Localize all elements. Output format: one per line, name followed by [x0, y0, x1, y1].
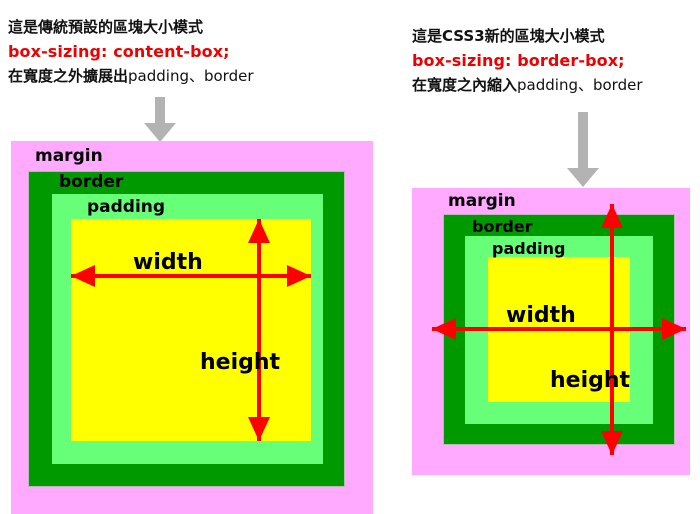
caption-code-declaration: box-sizing: content-box; — [8, 39, 398, 64]
box-model-diagram-border-box: margin border padding width height — [412, 188, 690, 475]
caption-border-box: 這是CSS3新的區塊大小模式 box-sizing: border-box; 在… — [412, 25, 700, 97]
height-arrow-head-bottom — [601, 431, 623, 455]
down-arrow-shaft — [578, 112, 588, 170]
height-measure-arrow — [248, 219, 270, 441]
width-label: width — [133, 251, 203, 275]
caption-line-1: 這是CSS3新的區塊大小模式 — [412, 25, 700, 48]
padding-label: padding — [492, 239, 565, 258]
height-arrow-line — [257, 219, 261, 441]
down-arrow-head — [567, 168, 599, 187]
width-label: width — [506, 304, 576, 328]
width-arrow-head-right — [662, 318, 686, 340]
height-arrow-head-top — [601, 204, 623, 228]
down-arrow-head — [144, 123, 176, 142]
caption-line-3: 在寬度之外擴展出padding、border — [8, 64, 398, 88]
width-arrow-head-left — [432, 318, 456, 340]
caption-code-declaration: box-sizing: border-box; — [412, 48, 700, 73]
height-arrow-line — [610, 204, 614, 455]
margin-label: margin — [448, 192, 516, 211]
caption-line-3-bold: 在寬度之外擴展出 — [8, 67, 128, 85]
padding-label: padding — [87, 198, 165, 217]
down-arrow-shaft — [155, 97, 165, 125]
caption-line-3: 在寬度之內縮入padding、border — [412, 73, 700, 97]
caption-line-3-light: padding、border — [517, 76, 642, 94]
caption-line-1: 這是傳統預設的區塊大小模式 — [8, 16, 398, 39]
margin-label: margin — [35, 147, 103, 166]
down-arrow-icon — [144, 97, 176, 143]
box-model-diagram-content-box: margin border padding width height — [11, 141, 373, 514]
caption-line-3-bold: 在寬度之內縮入 — [412, 76, 517, 94]
height-label: height — [200, 351, 280, 375]
panel-content-box: 這是傳統預設的區塊大小模式 box-sizing: content-box; 在… — [0, 0, 400, 514]
height-label: height — [550, 369, 630, 393]
border-label: border — [472, 217, 533, 236]
height-arrow-head-top — [248, 219, 270, 243]
caption-content-box: 這是傳統預設的區塊大小模式 box-sizing: content-box; 在… — [8, 16, 398, 88]
caption-line-3-light: padding、border — [128, 67, 253, 85]
down-arrow-icon — [567, 112, 599, 188]
border-label: border — [59, 173, 123, 192]
height-arrow-head-bottom — [248, 417, 270, 441]
width-arrow-head-right — [287, 265, 311, 287]
height-measure-arrow — [601, 204, 623, 455]
width-arrow-head-left — [71, 265, 95, 287]
